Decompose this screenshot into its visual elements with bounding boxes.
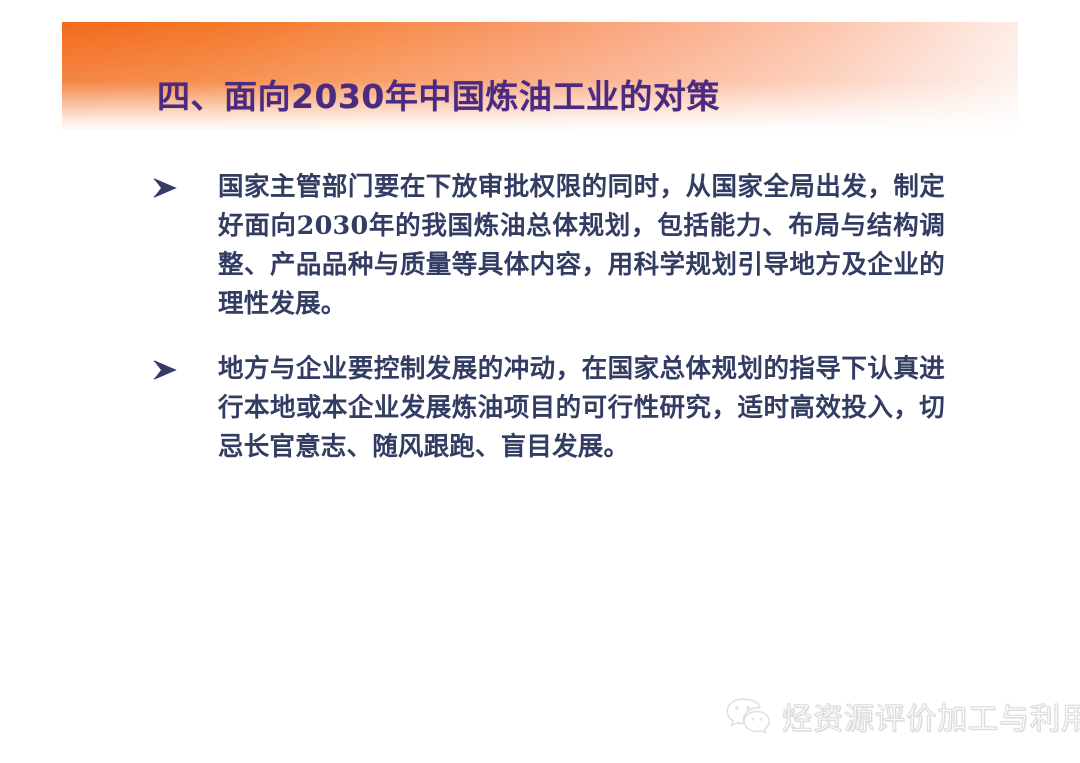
arrow-bullet-icon [152, 358, 180, 384]
arrow-bullet-icon [152, 176, 180, 202]
slide-canvas: 四、面向2030年中国炼油工业的对策 国家主管部门要在下放审批权限的同时，从国家… [0, 0, 1080, 763]
wechat-icon [725, 696, 771, 736]
watermark: 烃资源评价加工与利用 [725, 694, 1080, 738]
list-item: 地方与企业要控制发展的冲动，在国家总体规划的指导下认真进行本地或本企业发展炼油项… [0, 350, 1080, 467]
page-title: 四、面向2030年中国炼油工业的对策 [157, 80, 720, 113]
title-banner: 四、面向2030年中国炼油工业的对策 [62, 22, 1018, 130]
list-item: 国家主管部门要在下放审批权限的同时，从国家全局出发，制定好面向2030年的我国炼… [0, 168, 1080, 324]
watermark-text: 烃资源评价加工与利用 [782, 694, 1080, 738]
body-content: 国家主管部门要在下放审批权限的同时，从国家全局出发，制定好面向2030年的我国炼… [0, 168, 1080, 493]
